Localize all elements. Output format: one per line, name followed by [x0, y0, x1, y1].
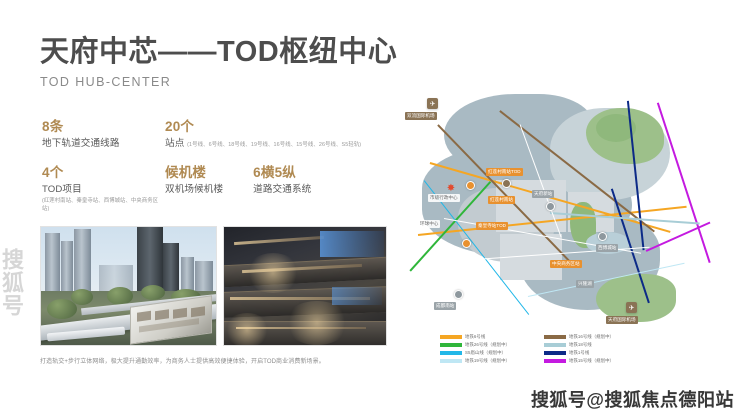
- stat-card-stations: 20个 站点 (1号线、6号线、18号线、19号线、16号线、15号线、26号线…: [165, 118, 372, 150]
- photo-tod-rendering-day: [40, 226, 217, 346]
- stat-label: 地下轨道交通线路: [42, 137, 165, 151]
- stat-label-text: 站点: [165, 138, 184, 149]
- legend-label: 地铁19号线（规划中）: [465, 358, 510, 364]
- stat-label: 道路交通系统: [253, 183, 311, 197]
- map-label-xiboCheng[interactable]: 西博城站: [596, 244, 618, 252]
- stat-number: 6横5纵: [253, 164, 311, 182]
- photo-caption: 打造轨交+步行立体网络，极大提升通勤效率，为商务人士提供高效便捷体验，开启TOD…: [40, 358, 390, 367]
- legend-label: 地铁16号线（规划中）: [569, 334, 614, 340]
- window-shape: [191, 306, 205, 317]
- stat-card-lines: 8条 地下轨道交通线路: [42, 118, 165, 150]
- window-shape: [173, 308, 187, 319]
- photo-gallery: [40, 226, 387, 346]
- screen-shape: [332, 287, 382, 305]
- legend-swatch: [544, 335, 566, 339]
- legend-item: 地铁15号线（规划中）: [544, 358, 640, 364]
- legend-label: 地铁18号线: [569, 342, 592, 348]
- legend-item: 地铁19号线（规划中）: [440, 358, 536, 364]
- stat-sublabel: (1号线、6号线、18号线、19号线、16号线、15号线、26号线、S5轻轨): [187, 142, 361, 148]
- legend-label: 地铁1号线: [569, 350, 589, 356]
- landmark-star-icon: ✸: [446, 184, 456, 194]
- stat-number: 候机楼: [165, 164, 223, 182]
- map-label-government-center[interactable]: 市级行政中心: [428, 194, 460, 202]
- legend-item: S5眉山线（规划中）: [440, 350, 536, 356]
- transit-map: ✈ 双流国际机场 ✈ 天府国际机场 市级行政中心 红莲村南站TOD 红莲村南站 …: [400, 84, 720, 334]
- stats-grid: 8条 地下轨道交通线路 20个 站点 (1号线、6号线、18号线、19号线、16…: [42, 118, 372, 213]
- airplane-icon: ✈: [427, 98, 438, 109]
- stat-sublabel: (红莲村南站、秦皇寺站、西博城站、中央商务区站): [42, 197, 165, 213]
- stat-label: 站点 (1号线、6号线、18号线、19号线、16号线、15号线、26号线、S5轻…: [165, 137, 372, 151]
- screen-shape: [320, 231, 384, 257]
- watermark-left: 搜狐号: [0, 248, 22, 317]
- map-label-shuangliu-airport[interactable]: 双流国际机场: [405, 112, 437, 120]
- map-label-global-center[interactable]: 环球中心: [418, 220, 440, 228]
- airplane-icon: ✈: [626, 302, 637, 313]
- map-label-xinglong-lake[interactable]: 兴隆湖: [576, 280, 594, 288]
- legend-swatch: [544, 343, 566, 347]
- map-label-honglian-tod[interactable]: 红莲村南站TOD: [486, 168, 523, 176]
- station-marker[interactable]: [462, 239, 471, 248]
- station-marker[interactable]: [598, 232, 607, 241]
- station-marker[interactable]: [454, 290, 463, 299]
- legend-item: 地铁6号线: [440, 334, 536, 340]
- legend-item: 地铁26号线（规划中）: [440, 342, 536, 348]
- legend-swatch: [440, 359, 462, 363]
- watermark-bottom: 搜狐号@搜狐焦点德阳站: [531, 386, 734, 412]
- glow-shape: [284, 301, 350, 345]
- legend-swatch: [544, 359, 566, 363]
- building-shape: [163, 243, 179, 295]
- legend-label: 地铁6号线: [465, 334, 485, 340]
- green-area-shape: [596, 274, 676, 322]
- legend-label: S5眉山线（规划中）: [465, 350, 506, 356]
- map-label-tianfu-station[interactable]: 天府新站: [532, 190, 554, 198]
- stat-card-tod-projects: 4个 TOD项目 (红莲村南站、秦皇寺站、西博城站、中央商务区站): [42, 164, 165, 213]
- station-marker[interactable]: [466, 181, 475, 190]
- photo-tod-rendering-night: [223, 226, 387, 346]
- stat-number: 4个: [42, 164, 165, 182]
- greenery-shape: [141, 285, 165, 300]
- legend-item: 地铁18号线: [544, 342, 640, 348]
- map-label-tianfu-airport[interactable]: 天府国际机场: [606, 316, 638, 324]
- page-subtitle: TOD HUB-CENTER: [40, 75, 397, 89]
- stat-number: 8条: [42, 118, 165, 136]
- stat-card-terminal-road: 候机楼 双机场候机楼 6横5纵 道路交通系统: [165, 164, 372, 213]
- map-label-qinhuangsi-tod[interactable]: 秦皇寺站TOD: [476, 222, 508, 230]
- stat-number: 20个: [165, 118, 372, 136]
- window-shape: [137, 311, 151, 322]
- page-header: 天府中芯——TOD枢纽中心 TOD HUB-CENTER: [40, 36, 397, 89]
- station-marker[interactable]: [546, 202, 555, 211]
- stat-label-text: TOD项目: [42, 184, 82, 195]
- legend-label: 地铁26号线（规划中）: [465, 342, 510, 348]
- stat-card-road: 6横5纵 道路交通系统: [253, 164, 311, 196]
- window-shape: [155, 309, 169, 320]
- station-marker[interactable]: [502, 179, 511, 188]
- stat-label: TOD项目: [42, 183, 165, 197]
- legend-swatch: [544, 351, 566, 355]
- legend-swatch: [440, 351, 462, 355]
- map-label-cbd-station[interactable]: 中央商务区站: [550, 260, 582, 268]
- legend-label: 地铁15号线（规划中）: [569, 358, 614, 364]
- stat-label: 双机场候机楼: [165, 183, 223, 197]
- greenery-shape: [71, 289, 93, 305]
- map-legend: 地铁6号线 地铁16号线（规划中） 地铁26号线（规划中） 地铁18号线 S5眉…: [440, 334, 640, 364]
- stat-card-terminal: 候机楼 双机场候机楼: [165, 164, 223, 196]
- glow-shape: [246, 253, 300, 293]
- legend-item: 地铁16号线（规划中）: [544, 334, 640, 340]
- glow-shape: [224, 313, 270, 346]
- map-label-honglian-station[interactable]: 红莲村南站: [488, 196, 515, 204]
- legend-item: 地铁1号线: [544, 350, 640, 356]
- page-title: 天府中芯——TOD枢纽中心: [40, 36, 397, 68]
- legend-swatch: [440, 343, 462, 347]
- map-label-chengdu-south[interactable]: 成都南站: [434, 302, 456, 310]
- legend-swatch: [440, 335, 462, 339]
